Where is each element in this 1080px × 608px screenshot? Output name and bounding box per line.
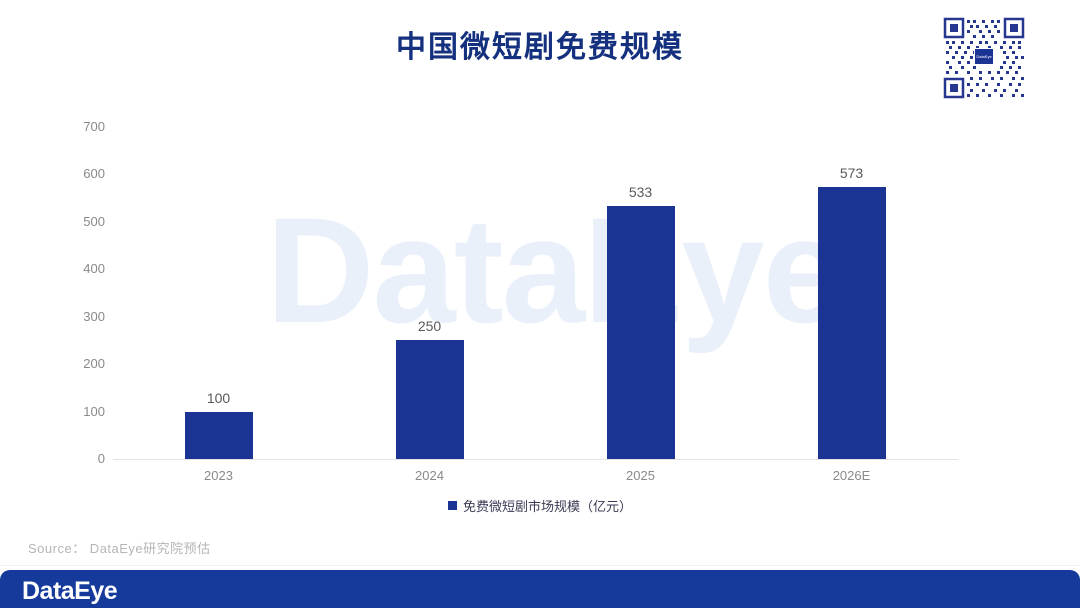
bar-group-2023: 100 [113, 127, 324, 459]
bar-2024[interactable] [396, 340, 464, 459]
bar-2023[interactable] [185, 412, 253, 459]
bar-2026e[interactable] [818, 187, 886, 459]
x-tick-2023: 2023 [113, 468, 324, 483]
footer-bar: DataEye [0, 570, 1080, 608]
brand-logo: DataEye [22, 577, 117, 606]
square-marker-icon [448, 501, 457, 510]
legend-item-label: 免费微短剧市场规模（亿元） [463, 496, 632, 515]
bar-value-2025: 533 [629, 184, 652, 200]
y-tick-0: 0 [61, 451, 105, 466]
chart-legend: 免费微短剧市场规模（亿元） [0, 496, 1080, 515]
bar-group-2025: 533 [535, 127, 746, 459]
svg-text:DataEye: DataEye [976, 54, 992, 59]
x-tick-2026e: 2026E [746, 468, 957, 483]
source-note: Source： DataEye研究院预估 [28, 538, 211, 557]
x-axis: 2023 2024 2025 2026E [113, 468, 958, 490]
y-tick-100: 100 [61, 404, 105, 419]
x-tick-2025: 2025 [535, 468, 746, 483]
bar-value-2023: 100 [207, 390, 230, 406]
bar-value-2026e: 573 [840, 165, 863, 181]
qr-code-icon[interactable]: DataEye [938, 12, 1030, 104]
y-tick-700: 700 [61, 119, 105, 134]
y-tick-300: 300 [61, 309, 105, 324]
bar-group-2024: 250 [324, 127, 535, 459]
x-tick-2024: 2024 [324, 468, 535, 483]
page-title: 中国微短剧免费规模 [0, 28, 1080, 68]
y-tick-600: 600 [61, 166, 105, 181]
y-tick-500: 500 [61, 214, 105, 229]
y-tick-400: 400 [61, 261, 105, 276]
bar-2025[interactable] [607, 206, 675, 459]
divider [0, 565, 1080, 566]
x-axis-line [113, 459, 958, 460]
plot-area: 100 250 533 573 [113, 127, 958, 459]
y-tick-200: 200 [61, 356, 105, 371]
bar-group-2026e: 573 [746, 127, 957, 459]
bar-value-2024: 250 [418, 318, 441, 334]
